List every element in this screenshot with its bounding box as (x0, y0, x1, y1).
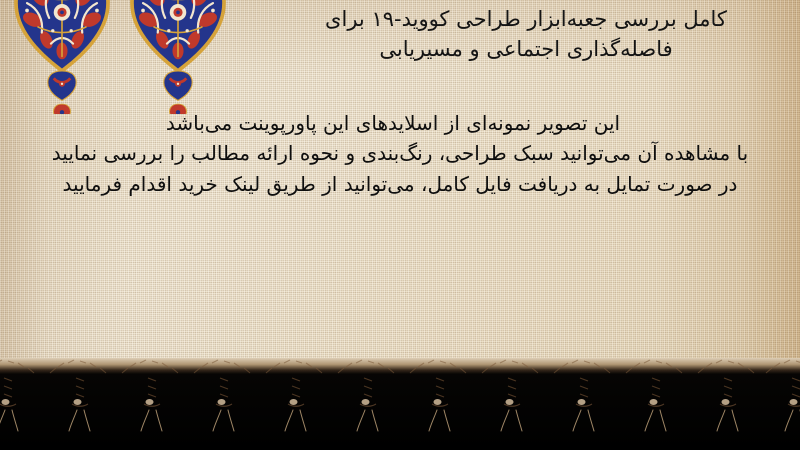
canvas-paper-background (0, 0, 800, 368)
canvas-weave-texture (0, 0, 800, 368)
carpet-fringe-band: 0%" stop-color="#e6c8a0"/> 55%" stop-col… (0, 358, 800, 450)
canvas-weave-highlight (0, 0, 800, 368)
presentation-slide: کامل بررسی جعبه‌ابزار طراحی کووید-۱۹ برا… (0, 0, 800, 450)
